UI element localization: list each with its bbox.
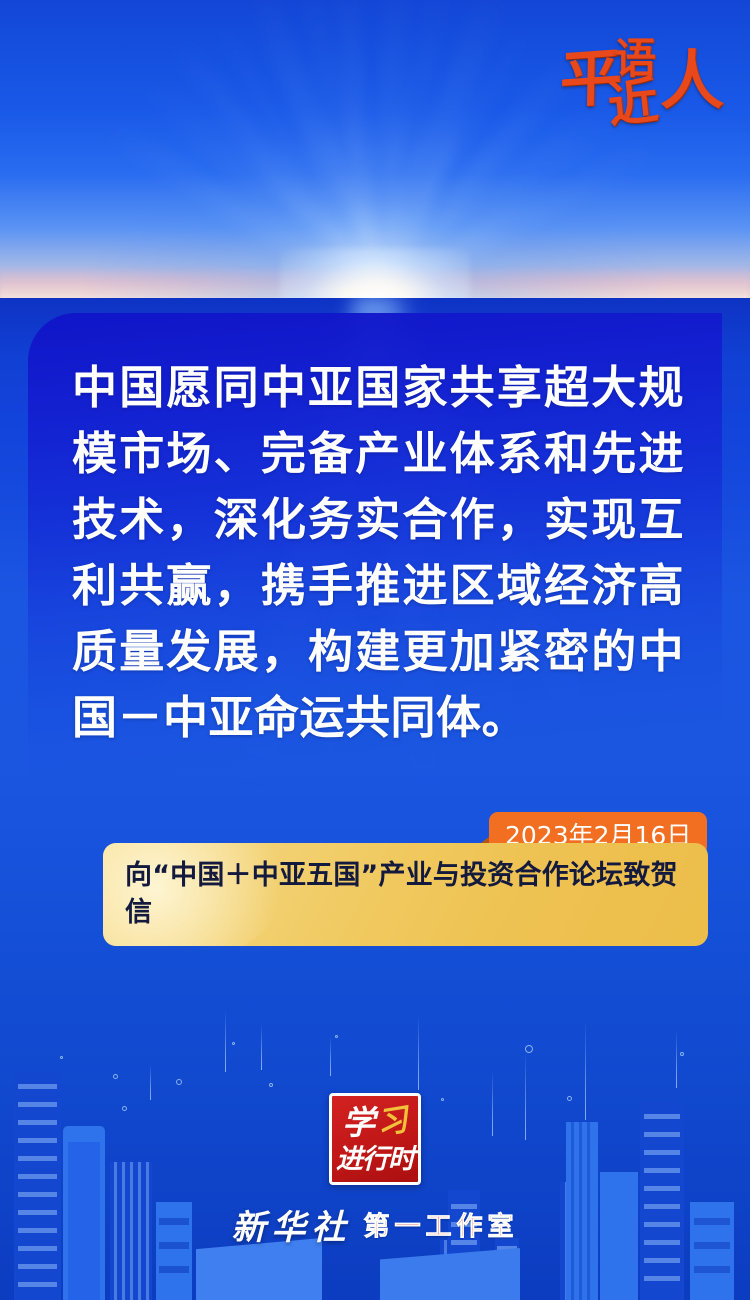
series-logo-char-4: 人 bbox=[660, 50, 724, 114]
xuexi-jinxingshi-badge[interactable]: 学 习 进行时 bbox=[329, 1093, 421, 1185]
badge-char-xi: 习 bbox=[375, 1104, 410, 1139]
decorative-dot bbox=[525, 1045, 533, 1053]
decorative-dot bbox=[567, 1096, 572, 1101]
building bbox=[380, 1248, 520, 1300]
decorative-dot bbox=[122, 1106, 127, 1111]
caption-source-text: 向“中国＋中亚五国”产业与投资合作论坛致贺信 bbox=[125, 857, 691, 931]
agency-name: 新华社 bbox=[231, 1200, 351, 1249]
decorative-streak bbox=[150, 1064, 151, 1100]
decorative-streak bbox=[261, 1024, 262, 1070]
decorative-streak bbox=[585, 1020, 586, 1120]
series-logo-char-3: 近 bbox=[606, 76, 661, 131]
decorative-dot bbox=[176, 1079, 182, 1085]
decorative-streak bbox=[492, 1070, 493, 1136]
decorative-streak bbox=[225, 1010, 226, 1072]
decorative-dot bbox=[441, 1098, 444, 1101]
quote-text: 中国愿同中亚国家共享超大规模市场、完备产业体系和先进技术，深化务实合作，实现互利… bbox=[72, 355, 684, 751]
decorative-streak bbox=[525, 1050, 526, 1140]
quote-card: 中国愿同中亚国家共享超大规模市场、完备产业体系和先进技术，深化务实合作，实现互利… bbox=[28, 313, 722, 783]
series-logo: 平 语 近 人 bbox=[556, 34, 716, 144]
poster-root: 平 语 近 人 中国愿同中亚国家共享超大规模市场、完备产业体系和先进技术，深化务… bbox=[0, 0, 750, 1300]
building bbox=[14, 1072, 61, 1300]
decorative-dot bbox=[113, 1074, 118, 1079]
brand-line: 新华社 第一工作室 bbox=[0, 1200, 750, 1249]
studio-name: 第一工作室 bbox=[363, 1206, 518, 1243]
badge-top-row: 学 习 bbox=[332, 1103, 418, 1141]
decorative-dot bbox=[60, 1056, 63, 1059]
decorative-dot bbox=[335, 1035, 338, 1038]
caption-box: 向“中国＋中亚五国”产业与投资合作论坛致贺信 bbox=[103, 843, 708, 946]
decorative-dot bbox=[680, 1052, 684, 1056]
badge-char-xue: 学 bbox=[342, 1106, 375, 1139]
decorative-dot bbox=[232, 1042, 235, 1045]
decorative-streak bbox=[676, 1030, 677, 1088]
decorative-streak bbox=[418, 1016, 419, 1090]
badge-bottom-text: 进行时 bbox=[332, 1141, 418, 1177]
decorative-streak bbox=[330, 1036, 331, 1076]
decorative-dot bbox=[269, 1083, 273, 1087]
